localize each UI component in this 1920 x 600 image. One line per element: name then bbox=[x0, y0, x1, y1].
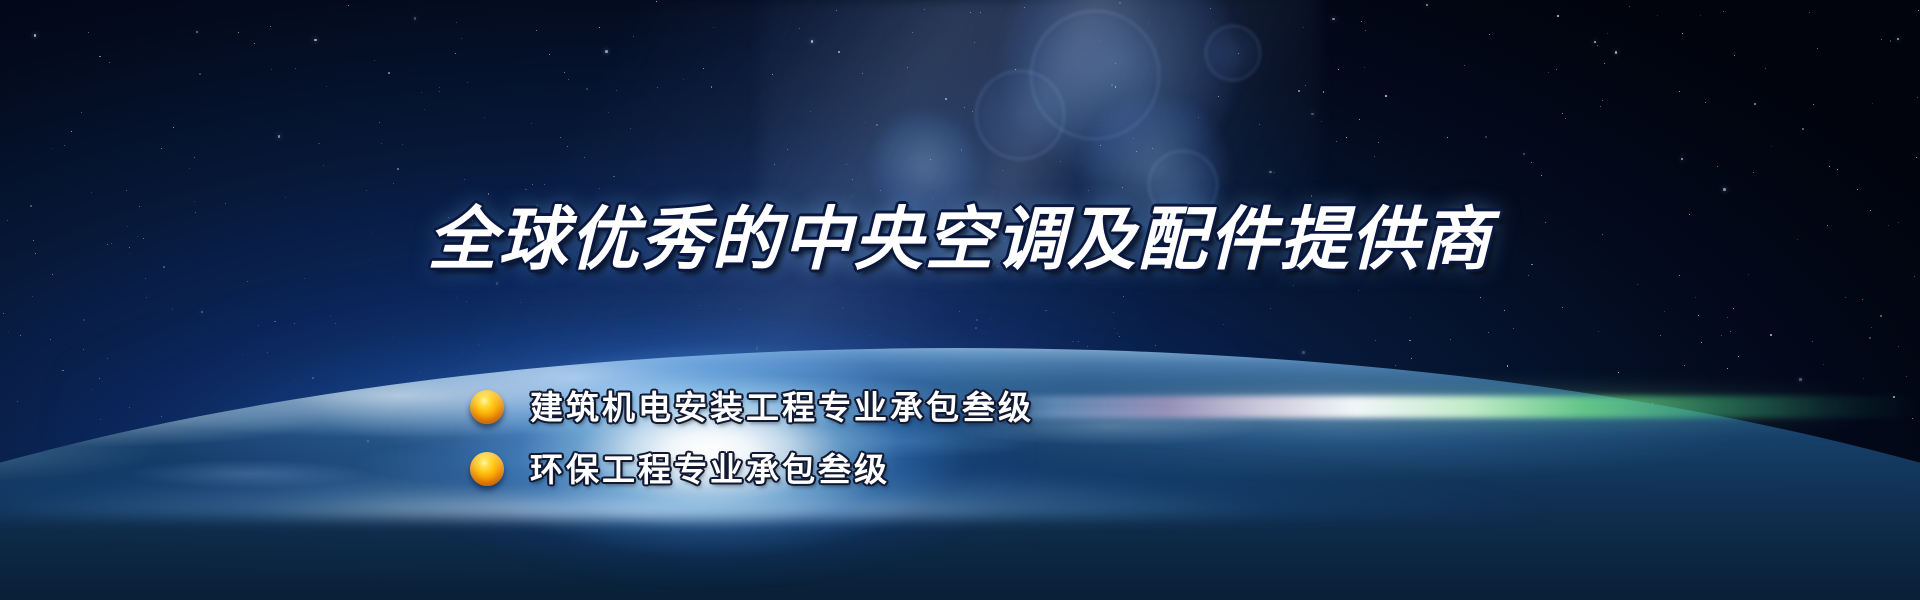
bullet-item-label: 建筑机电安装工程专业承包叁级 bbox=[530, 391, 1034, 424]
banner-headline: 全球优秀的中央空调及配件提供商 bbox=[0, 205, 1920, 274]
orange-sphere-bullet-icon bbox=[470, 390, 504, 424]
banner-content: 全球优秀的中央空调及配件提供商 建筑机电安装工程专业承包叁级 环保工程专业承包叁… bbox=[0, 0, 1920, 600]
bullet-item: 建筑机电安装工程专业承包叁级 bbox=[470, 376, 1370, 438]
bullet-item: 环保工程专业承包叁级 bbox=[470, 438, 1370, 500]
bullet-item-label: 环保工程专业承包叁级 bbox=[530, 453, 890, 486]
hero-banner: 全球优秀的中央空调及配件提供商 建筑机电安装工程专业承包叁级 环保工程专业承包叁… bbox=[0, 0, 1920, 600]
banner-bullet-list: 建筑机电安装工程专业承包叁级 环保工程专业承包叁级 bbox=[470, 376, 1370, 500]
orange-sphere-bullet-icon bbox=[470, 452, 504, 486]
